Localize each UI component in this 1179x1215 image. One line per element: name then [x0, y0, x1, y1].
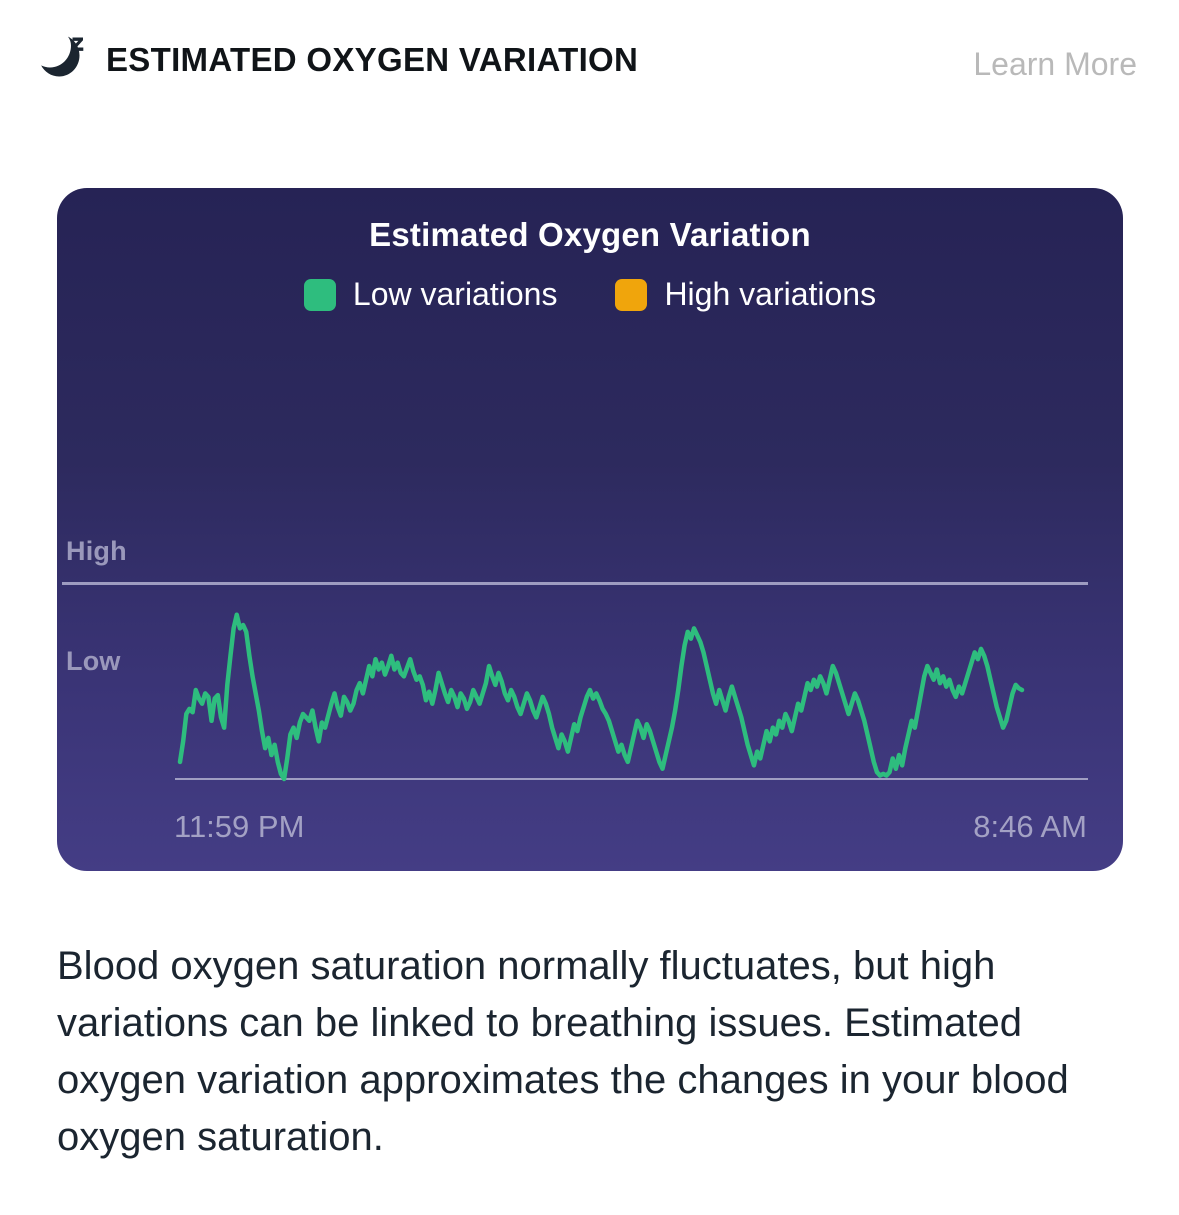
description-text: Blood oxygen saturation normally fluctua… [57, 938, 1132, 1166]
x-axis-label-start: 11:59 PM [174, 809, 304, 845]
moon-z-icon [36, 31, 94, 89]
page-title: ESTIMATED OXYGEN VARIATION [106, 41, 638, 79]
page-header: ESTIMATED OXYGEN VARIATION Learn More [0, 0, 1179, 120]
x-axis-label-end: 8:46 AM [973, 809, 1087, 845]
header-left-group: ESTIMATED OXYGEN VARIATION [36, 31, 638, 89]
learn-more-link[interactable]: Learn More [973, 46, 1137, 83]
chart-plot-area: High Low 11:59 PM 8:46 AM [57, 188, 1123, 871]
oxygen-variation-line-series [57, 188, 1123, 871]
oxygen-variation-chart-card[interactable]: Estimated Oxygen Variation Low variation… [57, 188, 1123, 871]
